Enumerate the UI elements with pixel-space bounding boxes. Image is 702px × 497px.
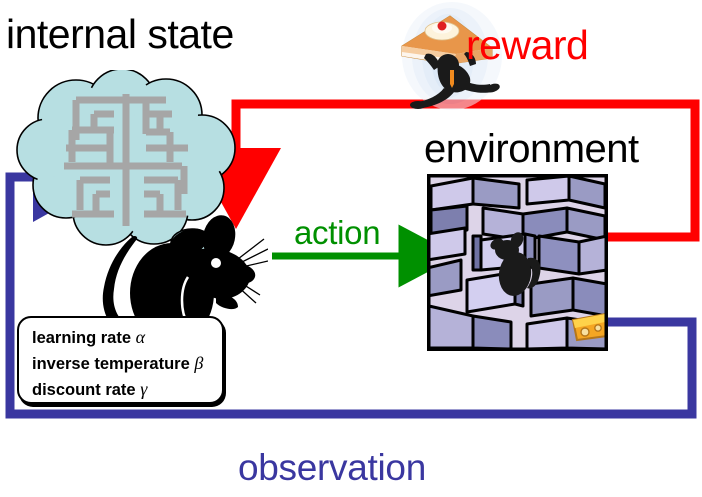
action-label: action bbox=[294, 216, 380, 249]
parameter-box: learning rate α inverse temperature β di… bbox=[17, 316, 224, 404]
param-discount-rate: discount rate γ bbox=[32, 377, 222, 403]
param-learning-rate: learning rate α bbox=[32, 325, 222, 351]
param-inverse-temperature-name: inverse temperature bbox=[32, 355, 190, 373]
reward-label: reward bbox=[466, 25, 588, 66]
param-inverse-temperature-symbol: β bbox=[194, 353, 203, 373]
param-discount-rate-symbol: γ bbox=[140, 379, 147, 399]
param-discount-rate-name: discount rate bbox=[32, 381, 136, 399]
diagram-canvas: internal state reward environment action… bbox=[0, 0, 702, 497]
param-learning-rate-symbol: α bbox=[136, 327, 145, 347]
3d-maze-icon bbox=[427, 174, 608, 351]
internal-state-label: internal state bbox=[6, 14, 234, 55]
param-learning-rate-name: learning rate bbox=[32, 329, 131, 347]
param-inverse-temperature: inverse temperature β bbox=[32, 351, 222, 377]
environment-label: environment bbox=[424, 129, 639, 169]
mouse-eye bbox=[211, 258, 221, 268]
observation-label: observation bbox=[238, 449, 426, 486]
